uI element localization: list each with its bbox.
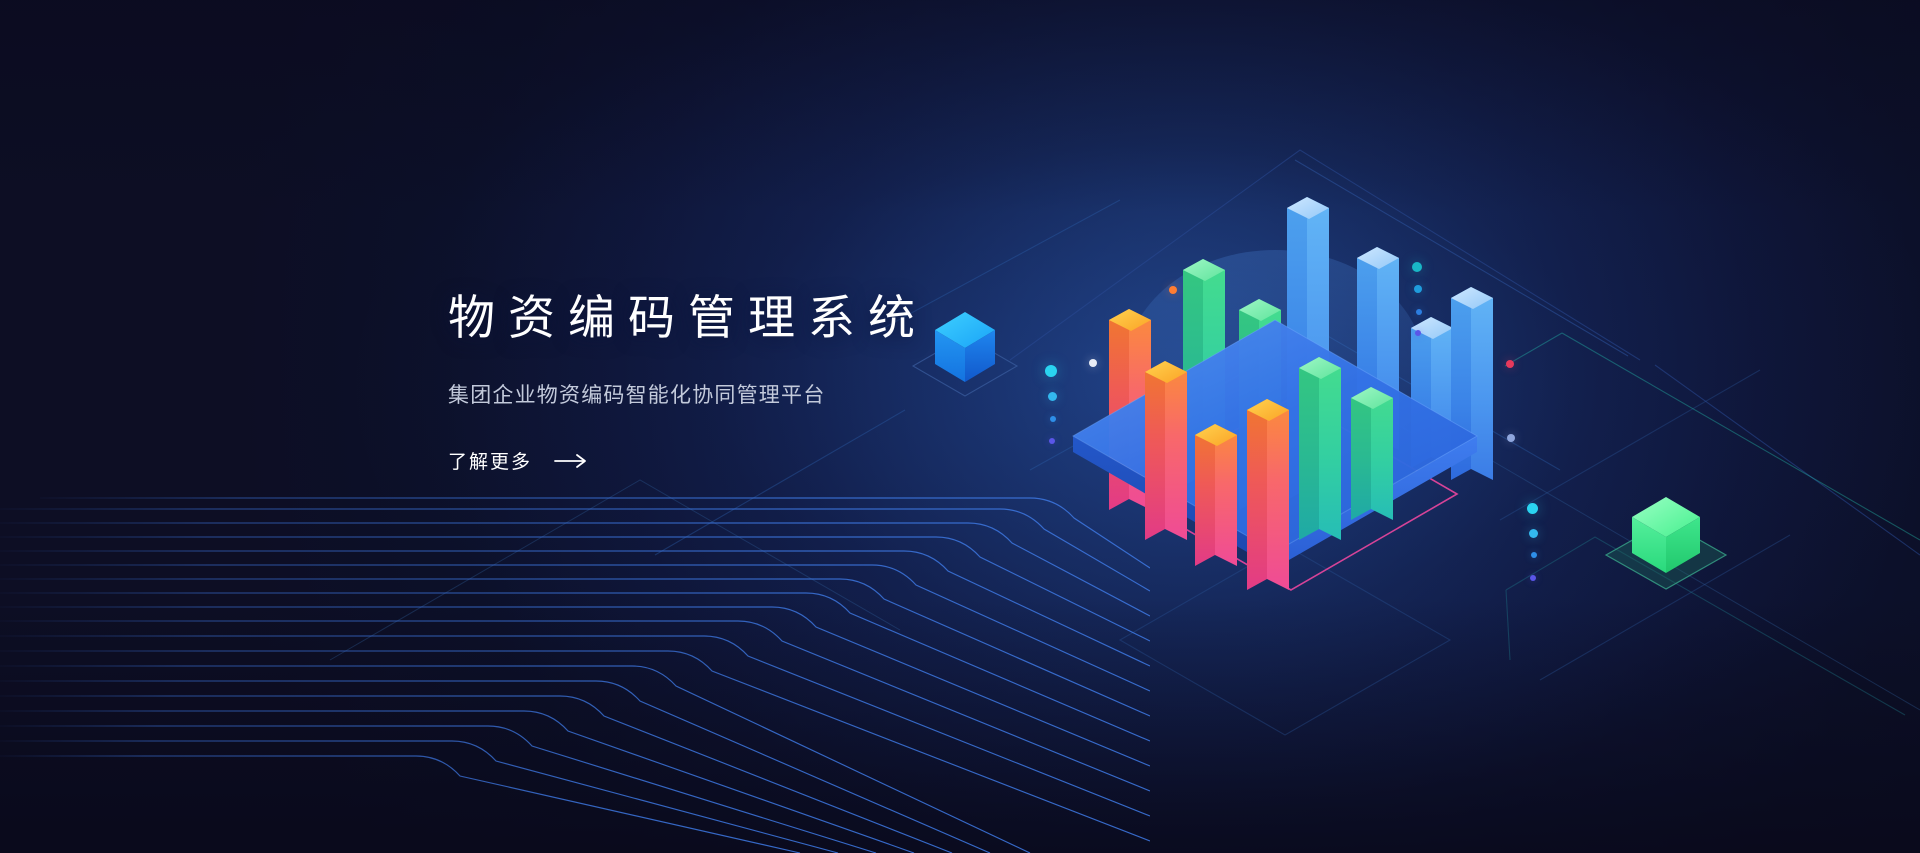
dot-teal-right-3 — [1416, 309, 1422, 315]
dot-violet-right — [1415, 330, 1421, 336]
dot-cyan-right-1 — [1527, 503, 1538, 514]
hero-copy: 物资编码管理系统 集团企业物资编码智能化协同管理平台 了解更多 — [448, 290, 928, 485]
dot-cyan-right-3 — [1531, 552, 1537, 558]
hero-banner: 物资编码管理系统 集团企业物资编码智能化协同管理平台 了解更多 — [0, 0, 1920, 853]
dot-violet-left — [1049, 438, 1055, 444]
bar-b8 — [1299, 357, 1341, 540]
dot-red-right — [1506, 360, 1514, 368]
dot-white-left — [1089, 359, 1097, 367]
bar-b9 — [1351, 387, 1393, 520]
green-cube-icon — [1600, 485, 1732, 605]
dot-violet-right-2 — [1530, 575, 1536, 581]
dot-teal-right-2 — [1414, 285, 1422, 293]
bar-b2 — [1145, 361, 1187, 540]
dot-cyan-large-left — [1045, 365, 1057, 377]
bar-b4 — [1195, 424, 1237, 566]
page-title: 物资编码管理系统 — [448, 290, 928, 345]
dot-cyan-small-left — [1050, 416, 1056, 422]
page-subtitle: 集团企业物资编码智能化协同管理平台 — [448, 379, 928, 409]
dot-cyan-right-2 — [1529, 529, 1538, 538]
dot-teal-right-1 — [1412, 262, 1422, 272]
arrow-right-icon — [554, 453, 588, 469]
dot-lavender-right — [1507, 434, 1515, 442]
background-vignette — [0, 0, 1920, 853]
learn-more-label: 了解更多 — [448, 447, 532, 474]
learn-more-button[interactable]: 了解更多 — [448, 447, 588, 485]
isometric-bar-chart — [1055, 180, 1495, 600]
dot-cyan-mid-left — [1048, 392, 1057, 401]
bar-b7 — [1247, 399, 1289, 590]
dot-orange-top — [1169, 286, 1177, 294]
